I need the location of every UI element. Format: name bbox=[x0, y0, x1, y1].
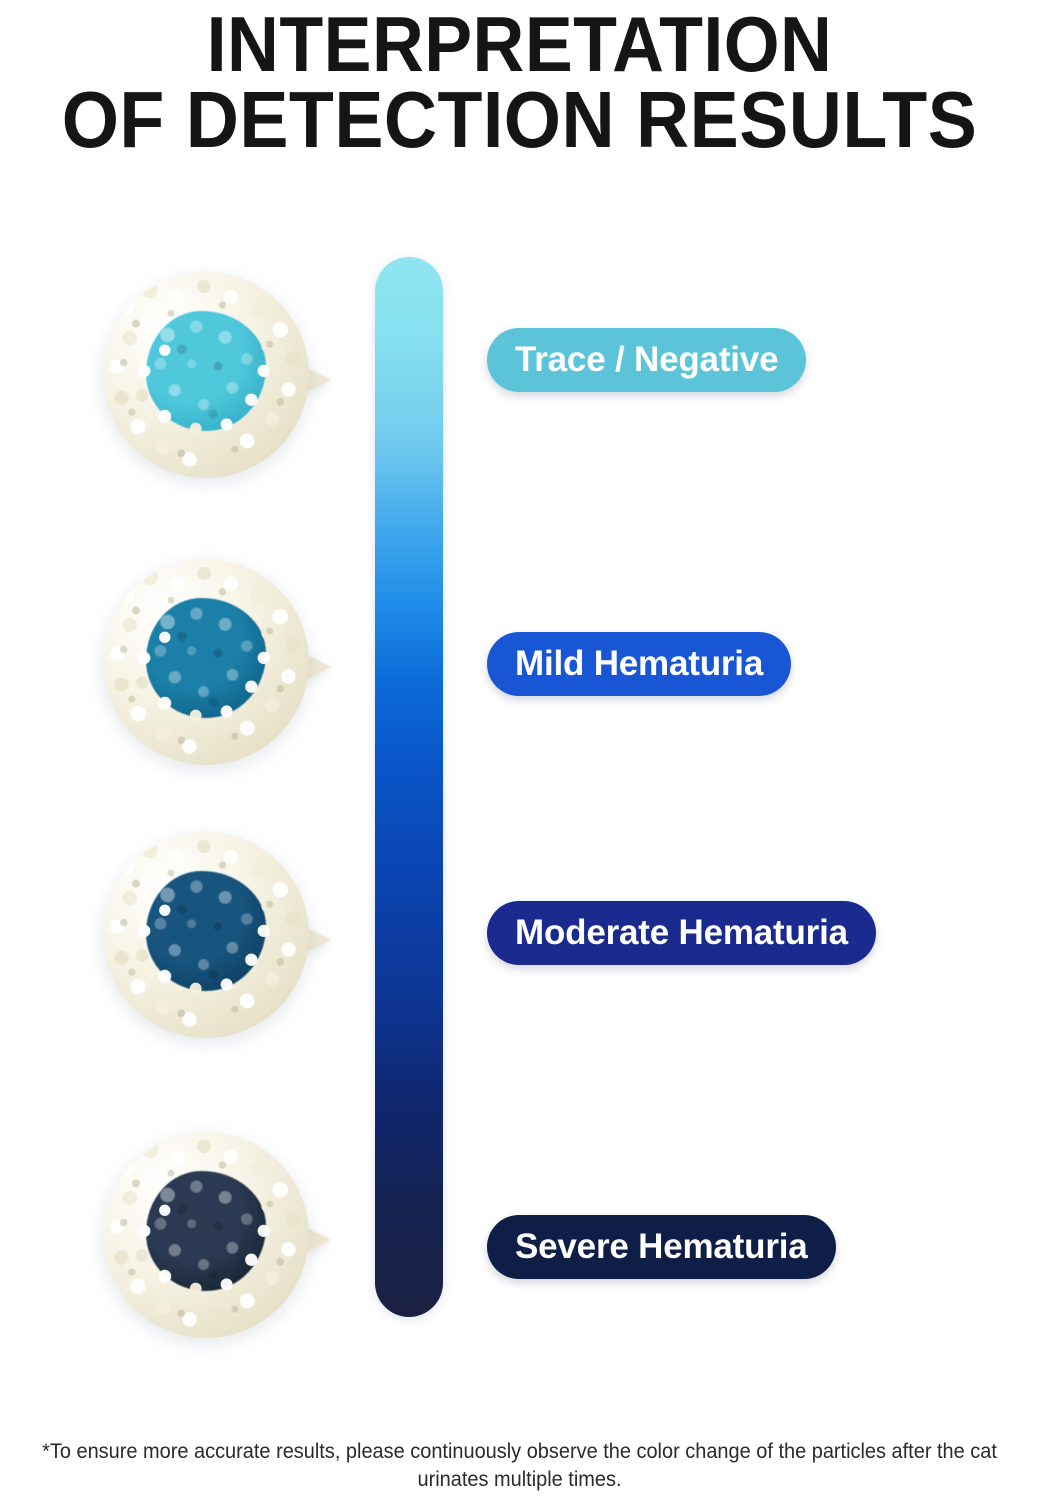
result-pill-mild-hematuria[interactable]: Mild Hematuria bbox=[487, 632, 791, 696]
litter-sample-mild-hematuria bbox=[103, 559, 309, 765]
footnote-text: *To ensure more accurate results, please… bbox=[26, 1438, 1013, 1494]
title-line-1: INTERPRETATION bbox=[42, 6, 998, 82]
result-pill-label: Moderate Hematuria bbox=[515, 915, 848, 951]
page-title: INTERPRETATION OF DETECTION RESULTS bbox=[0, 0, 1039, 158]
litter-sample-trace-negative bbox=[103, 272, 309, 478]
result-pill-moderate-hematuria[interactable]: Moderate Hematuria bbox=[487, 901, 876, 965]
litter-sample-severe-hematuria bbox=[103, 1132, 309, 1338]
litter-disc bbox=[103, 559, 309, 765]
litter-disc bbox=[103, 1132, 309, 1338]
litter-granule-shadows bbox=[103, 272, 309, 478]
litter-granule-shadows bbox=[103, 832, 309, 1038]
result-pill-label: Severe Hematuria bbox=[515, 1229, 808, 1265]
result-pill-label: Mild Hematuria bbox=[515, 646, 763, 682]
litter-sample-moderate-hematuria bbox=[103, 832, 309, 1038]
title-line-2: OF DETECTION RESULTS bbox=[42, 82, 998, 158]
result-pill-label: Trace / Negative bbox=[515, 342, 778, 378]
result-pill-severe-hematuria[interactable]: Severe Hematuria bbox=[487, 1215, 836, 1279]
litter-granule-shadows bbox=[103, 1132, 309, 1338]
result-pill-trace-negative[interactable]: Trace / Negative bbox=[487, 328, 806, 392]
litter-disc bbox=[103, 272, 309, 478]
litter-disc bbox=[103, 832, 309, 1038]
litter-granule-shadows bbox=[103, 559, 309, 765]
color-gradient-scale-bar bbox=[375, 257, 443, 1317]
